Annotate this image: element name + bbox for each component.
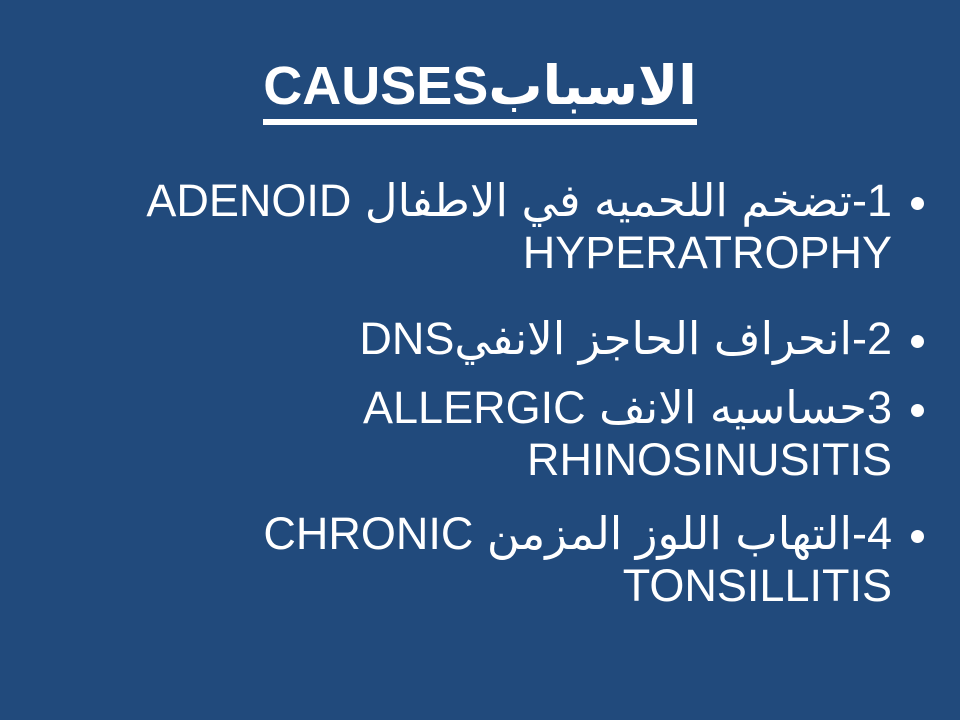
list-item: 2-انحراف الحاجز الانفيDNS bbox=[24, 313, 926, 365]
causes-list: 1-تضخم اللحميه في الاطفال ADENOID HYPERA… bbox=[0, 161, 960, 612]
bullet-dot-icon bbox=[911, 404, 924, 417]
bullet-dot-icon bbox=[911, 530, 924, 543]
presentation-slide: الاسبابCAUSES 1-تضخم اللحميه في الاطفال … bbox=[0, 0, 960, 720]
list-item-label: 3حساسيه الانف ALLERGIC RHINOSINUSITIS bbox=[24, 382, 892, 486]
list-item: 4-التهاب اللوز المزمن CHRONIC TONSILLITI… bbox=[24, 508, 926, 612]
title-block: الاسبابCAUSES bbox=[0, 0, 960, 161]
page-title: الاسبابCAUSES bbox=[263, 58, 696, 125]
bullet-dot-icon bbox=[911, 197, 924, 210]
list-item-label: 1-تضخم اللحميه في الاطفال ADENOID HYPERA… bbox=[24, 175, 892, 279]
list-item-label: 4-التهاب اللوز المزمن CHRONIC TONSILLITI… bbox=[24, 508, 892, 612]
list-item: 3حساسيه الانف ALLERGIC RHINOSINUSITIS bbox=[24, 382, 926, 486]
list-item-label: 2-انحراف الحاجز الانفيDNS bbox=[24, 313, 892, 365]
bullet-dot-icon bbox=[911, 335, 924, 348]
list-item: 1-تضخم اللحميه في الاطفال ADENOID HYPERA… bbox=[24, 175, 926, 279]
